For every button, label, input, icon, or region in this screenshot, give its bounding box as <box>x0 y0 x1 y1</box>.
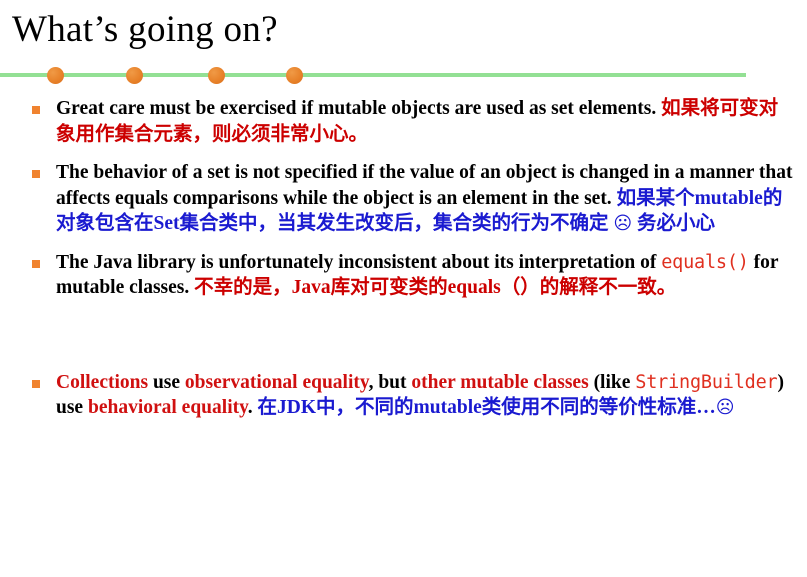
square-bullet-icon <box>32 380 40 388</box>
bullet-text: Collections use observational equality, … <box>56 370 793 421</box>
divider-dot-3 <box>208 67 225 84</box>
bullet-text: Great care must be exercised if mutable … <box>56 96 793 147</box>
text-run-black: use <box>148 372 185 393</box>
vertical-spacer <box>0 314 807 370</box>
square-bullet-icon <box>32 260 40 268</box>
text-run-black: Great care must be exercised if mutable … <box>56 98 661 119</box>
text-run-cn-blue: 在JDK中，不同的mutable类使用不同的等价性标准… <box>258 397 716 418</box>
text-run-red: behavioral equality <box>88 397 248 418</box>
text-run-black: , but <box>369 372 412 393</box>
text-run-black: The Java library is unfortunately incons… <box>56 252 661 273</box>
title-divider-line <box>0 73 746 77</box>
square-bullet-icon <box>32 170 40 178</box>
slide-body: Great care must be exercised if mutable … <box>0 96 807 434</box>
text-run-red: Collections <box>56 372 148 393</box>
bullet-item-bullet-collections-equality: Collections use observational equality, … <box>0 370 807 421</box>
bullet-item-bullet-set-behavior-unspecified: The behavior of a set is not specified i… <box>0 160 807 237</box>
bullet-item-bullet-java-library-inconsistent: The Java library is unfortunately incons… <box>0 250 807 301</box>
bullet-text: The behavior of a set is not specified i… <box>56 160 793 237</box>
page-title: What’s going on? <box>12 8 278 51</box>
text-run-cn-blue: 务必小心 <box>632 213 715 234</box>
text-run-red: other mutable classes <box>411 372 588 393</box>
slide-canvas: What’s going on? Great care must be exer… <box>0 0 807 577</box>
text-run-black: . <box>248 397 258 418</box>
text-run-emoji-sad-blue: ☹ <box>613 213 632 234</box>
bullet-item-bullet-mutable-set-elements: Great care must be exercised if mutable … <box>0 96 807 147</box>
divider-dot-4 <box>286 67 303 84</box>
text-run-code: equals() <box>661 252 749 273</box>
divider-dot-2 <box>126 67 143 84</box>
text-run-red: observational equality <box>185 372 369 393</box>
text-run-black: (like <box>589 372 636 393</box>
text-run-code: StringBuilder <box>635 372 777 393</box>
text-run-emoji-sad-blue: ☹ <box>716 397 735 418</box>
divider-dot-1 <box>47 67 64 84</box>
bullet-text: The Java library is unfortunately incons… <box>56 250 793 301</box>
square-bullet-icon <box>32 106 40 114</box>
text-run-cn-red: 不幸的是，Java库对可变类的equals（）的解释不一致。 <box>194 277 676 298</box>
